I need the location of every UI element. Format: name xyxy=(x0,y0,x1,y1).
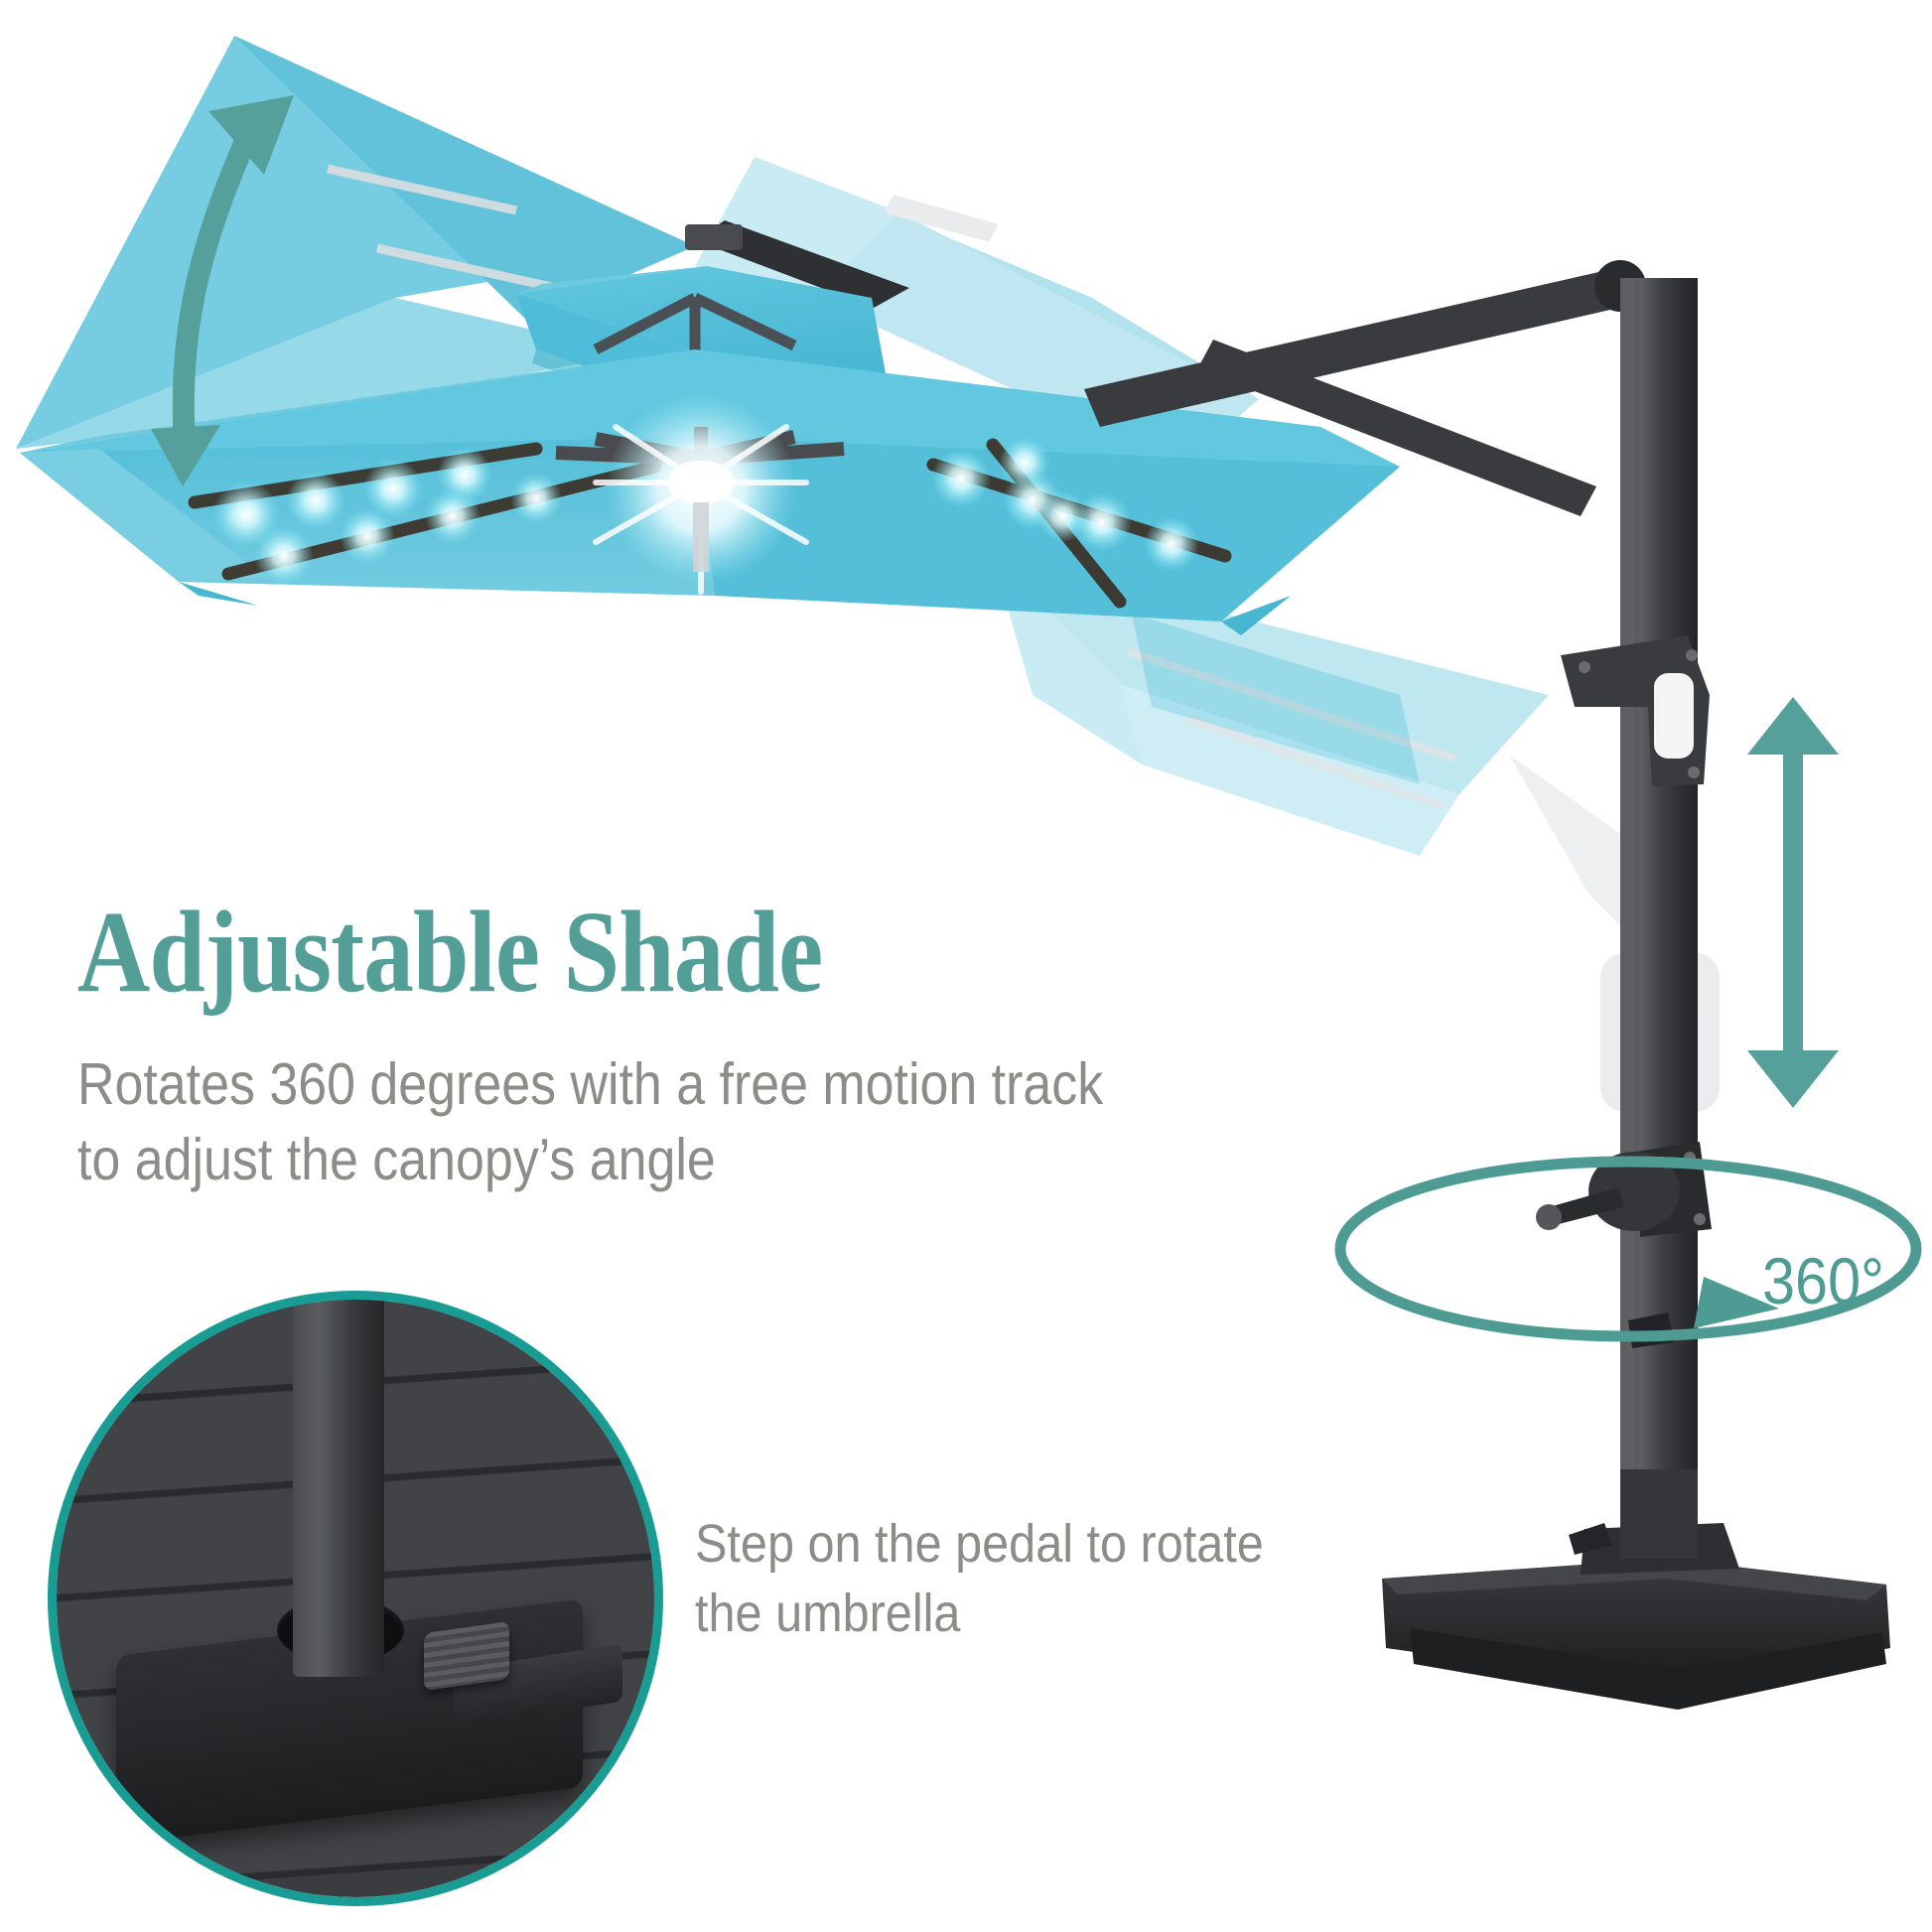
inset-image xyxy=(57,1300,654,1897)
rotation-label: 360° xyxy=(1762,1243,1884,1318)
umbrella-base xyxy=(1382,1469,1890,1710)
subtitle-text: Rotates 360 degrees with a free motion t… xyxy=(77,1047,1108,1197)
foot-pedal-icon xyxy=(424,1621,509,1691)
product-feature-graphic: Adjustable Shade Rotates 360 degrees wit… xyxy=(0,0,1932,1932)
page-title: Adjustable Shade xyxy=(77,894,822,1011)
pedal-caption: Step on the pedal to rotate the umbrella xyxy=(695,1509,1267,1648)
ghost-canopy-lowered xyxy=(993,556,1720,1112)
inset-pole xyxy=(293,1300,384,1677)
pedal-detail-inset xyxy=(48,1291,663,1906)
